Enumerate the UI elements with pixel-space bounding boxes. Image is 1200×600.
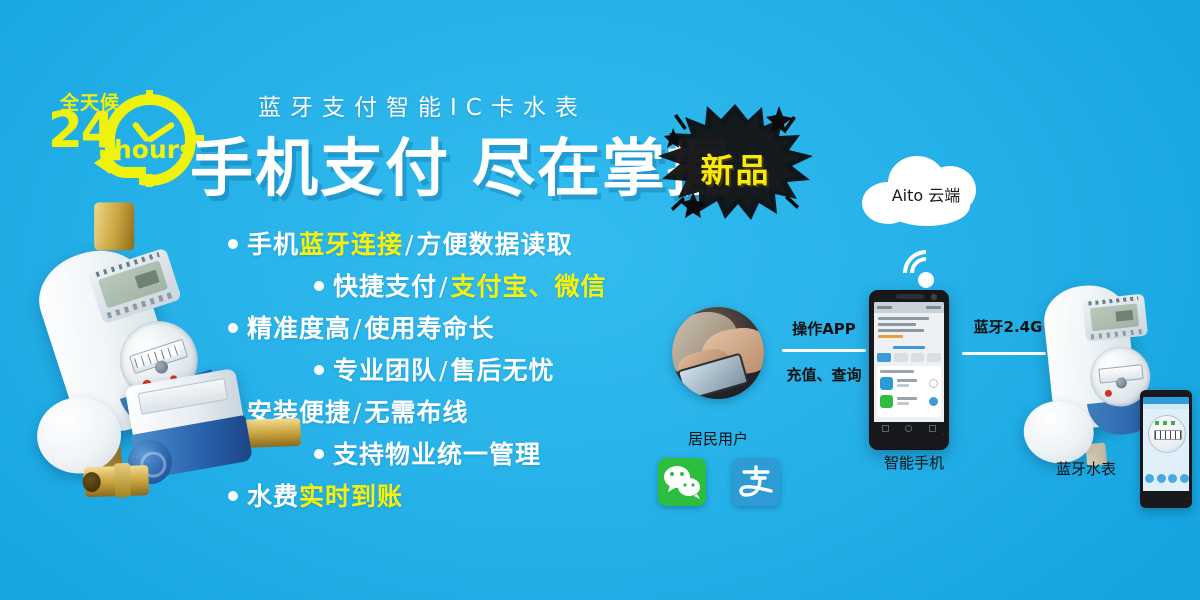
phone-camera-icon bbox=[930, 293, 938, 301]
feature-1-pre: 手机 bbox=[247, 230, 299, 259]
link-label-recharge-query: 充值、查询 bbox=[776, 364, 872, 385]
caption-smartphone: 智能手机 bbox=[856, 452, 972, 473]
feature-3-pre: 精准度高 bbox=[247, 314, 351, 343]
feature-4-post: 售后无忧 bbox=[450, 356, 554, 385]
android-nav-bar bbox=[874, 422, 944, 435]
phone-speaker-icon bbox=[896, 294, 924, 299]
feature-3-sep: / bbox=[351, 314, 364, 343]
new-product-badge: 新品 bbox=[653, 100, 818, 225]
valve-nut-left bbox=[114, 463, 131, 498]
caption-bluetooth-meter: 蓝牙水表 bbox=[1028, 458, 1144, 479]
headline-part-1: 手机支付 bbox=[190, 132, 450, 205]
nav-back-icon[interactable] bbox=[882, 425, 889, 432]
amount-tab-2[interactable] bbox=[894, 353, 908, 362]
bullet-dot-icon bbox=[314, 365, 324, 375]
amount-tab-3[interactable] bbox=[911, 353, 925, 362]
amount-tab-1[interactable] bbox=[877, 353, 891, 362]
nav-home-icon[interactable] bbox=[905, 425, 912, 432]
app-link-text[interactable] bbox=[893, 346, 925, 349]
app-info-block bbox=[874, 313, 944, 343]
feature-4-sep: / bbox=[437, 356, 450, 385]
wifi-dot bbox=[918, 272, 934, 288]
feature-3-post: 使用寿命长 bbox=[364, 314, 494, 343]
connector-line-1 bbox=[782, 349, 866, 352]
bt-meter-pointer-hub bbox=[1115, 377, 1127, 389]
payment-option-wechat[interactable] bbox=[880, 395, 938, 408]
meter-app-register bbox=[1154, 430, 1182, 440]
feature-item-3: 精准度高/使用寿命长 bbox=[228, 316, 698, 341]
feature-item-6: 支持物业统一管理 bbox=[314, 442, 698, 467]
feature-1-post: 方便数据读取 bbox=[416, 230, 572, 259]
meter-app-button-3[interactable] bbox=[1168, 474, 1177, 483]
logo-hours-text: hours bbox=[114, 135, 194, 164]
bullet-dot-icon bbox=[228, 239, 238, 249]
alipay-option-text bbox=[897, 379, 925, 389]
feature-item-1: 手机蓝牙连接/方便数据读取 bbox=[228, 232, 698, 257]
meter-app-leds bbox=[1155, 421, 1179, 425]
meter-app-nav-bar bbox=[1143, 491, 1189, 499]
feature-7-highlight: 实时到账 bbox=[299, 482, 403, 511]
clock-tick-top-icon bbox=[146, 90, 153, 103]
cloud-icon: Aito 云端 bbox=[862, 152, 990, 230]
bullet-dot-icon bbox=[314, 449, 324, 459]
promo-banner: 全天候 24 hours 蓝牙支付智能IC卡水表 手机支付尽在掌握 新品 手机蓝 bbox=[0, 0, 1200, 600]
feature-2-pre: 快捷支付 bbox=[333, 272, 437, 301]
bt-meter-red-marker bbox=[1105, 390, 1113, 398]
cloud-label: Aito 云端 bbox=[862, 182, 990, 206]
alipay-icon[interactable] bbox=[732, 458, 780, 506]
meter-app-dial bbox=[1148, 415, 1186, 453]
app-top-bar bbox=[874, 302, 944, 313]
banner-subtitle: 蓝牙支付智能IC卡水表 bbox=[258, 88, 587, 122]
meter-app-subheader bbox=[1143, 404, 1189, 409]
feature-5-post: 无需布线 bbox=[364, 398, 468, 427]
meter-app-button-2[interactable] bbox=[1157, 474, 1166, 483]
feature-2-sep: / bbox=[437, 272, 450, 301]
app-title-bar bbox=[926, 306, 941, 309]
info-row-3 bbox=[878, 329, 924, 332]
bt-meter-lcd-screen bbox=[1090, 303, 1139, 331]
payment-card-title bbox=[880, 370, 914, 373]
feature-4-pre: 专业团队 bbox=[333, 356, 437, 385]
meter-app-screen bbox=[1143, 397, 1189, 499]
resident-user-photo bbox=[672, 307, 764, 399]
alipay-small-icon bbox=[880, 377, 893, 390]
valve-label-plate bbox=[138, 378, 228, 415]
info-row-2 bbox=[878, 323, 916, 326]
alipay-radio[interactable] bbox=[929, 379, 938, 388]
bullet-dot-icon bbox=[314, 281, 324, 291]
feature-item-2: 快捷支付/支付宝、微信 bbox=[314, 274, 698, 299]
link-label-operate-app: 操作APP bbox=[776, 318, 872, 339]
clock-24hours-logo: 全天候 24 hours bbox=[52, 88, 192, 188]
feature-2-highlight: 支付宝、微信 bbox=[450, 272, 606, 301]
feature-5-sep: / bbox=[351, 398, 364, 427]
clock-tick-bottom-icon bbox=[146, 174, 153, 187]
new-product-label: 新品 bbox=[653, 144, 818, 192]
wechat-pay-icon[interactable] bbox=[658, 458, 706, 506]
payment-option-alipay[interactable] bbox=[880, 377, 938, 390]
payment-app-icons bbox=[658, 458, 784, 512]
wechat-small-icon bbox=[880, 395, 893, 408]
payment-method-card bbox=[877, 366, 941, 417]
bt-meter-display-panel bbox=[1082, 294, 1148, 342]
wifi-icon bbox=[903, 250, 949, 284]
meter-app-header bbox=[1143, 397, 1189, 404]
meter-app-button-4[interactable] bbox=[1180, 474, 1189, 483]
app-amount-tabs bbox=[874, 353, 944, 366]
info-row-balance bbox=[878, 335, 903, 338]
meter-app-buttons bbox=[1145, 474, 1189, 483]
logo-number-24: 24 bbox=[48, 105, 114, 155]
smartphone-device bbox=[869, 290, 949, 450]
wechat-radio[interactable] bbox=[929, 397, 938, 406]
banner-headline: 手机支付尽在掌握 bbox=[190, 118, 732, 209]
feature-1-highlight: 蓝牙连接 bbox=[299, 230, 403, 259]
phone-screen bbox=[874, 302, 944, 435]
amount-tab-4[interactable] bbox=[927, 353, 941, 362]
meter-brass-fitting-top bbox=[94, 202, 134, 250]
nav-recents-icon[interactable] bbox=[929, 425, 936, 432]
bluetooth-water-meter bbox=[1013, 280, 1161, 473]
feature-6-pre: 支持物业统一管理 bbox=[333, 440, 541, 469]
wechat-option-text bbox=[897, 397, 925, 407]
meter-reading-phone bbox=[1140, 390, 1192, 508]
meter-app-button-1[interactable] bbox=[1145, 474, 1154, 483]
feature-item-4: 专业团队/售后无忧 bbox=[314, 358, 698, 383]
feature-1-sep: / bbox=[403, 230, 416, 259]
caption-resident-user: 居民用户 bbox=[672, 428, 764, 449]
app-back-icon[interactable] bbox=[877, 306, 892, 309]
meter-display-panel bbox=[87, 248, 182, 325]
info-row-1 bbox=[878, 317, 929, 320]
